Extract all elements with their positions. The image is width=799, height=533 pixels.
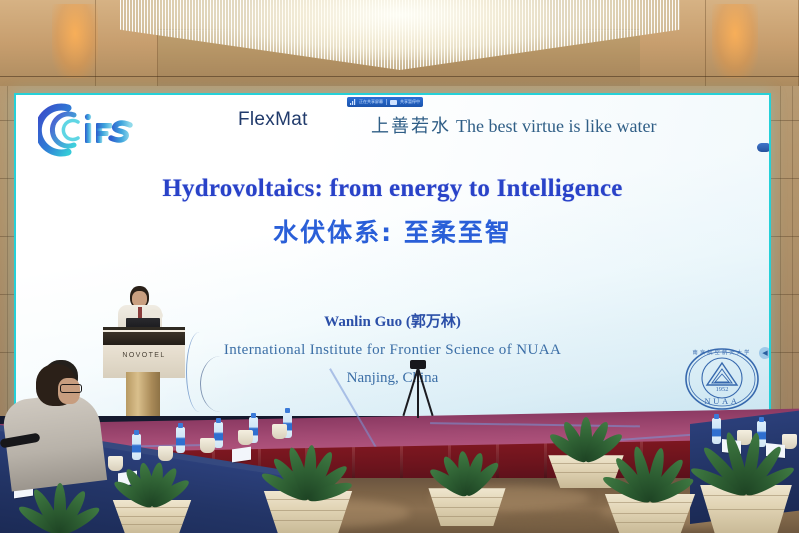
- speaker-name-chinese: 郭万林: [411, 312, 456, 330]
- water-bottle: [176, 427, 185, 453]
- ceiling-edge-line: [0, 76, 799, 77]
- potted-plant: [595, 440, 705, 533]
- tea-cup: [238, 430, 253, 445]
- lectern-top-band: [103, 332, 185, 345]
- conference-presentation-photo: 正在共享屏幕 共享暂停中 FlexMat 上善若水The best virtue…: [0, 0, 799, 533]
- eyeglasses: [60, 384, 82, 393]
- svg-text:南京航空航天大学: 南京航空航天大学: [692, 348, 751, 356]
- wall-joint: [792, 86, 793, 426]
- ceiling-warm-light: [712, 4, 758, 78]
- camera-tripod: [401, 360, 435, 418]
- speaker-name-latin: Wanlin Guo (: [324, 314, 411, 330]
- speaker-name-paren: ): [456, 314, 461, 330]
- potted-plant: [0, 470, 120, 533]
- lectern-brand-label: NOVOTEL: [103, 352, 185, 359]
- potted-plant: [254, 432, 362, 533]
- wall-joint: [780, 86, 781, 426]
- slide-tagline: 上善若水The best virtue is like water: [371, 112, 656, 138]
- screen-share-status-badge: 正在共享屏幕 共享暂停中: [347, 97, 423, 107]
- svg-text:NUAA: NUAA: [704, 396, 739, 406]
- ifs-logo: [38, 103, 134, 157]
- nuaa-seal-logo: 1952 NUAA 南京航空航天大学: [684, 341, 760, 416]
- tagline-chinese: 上善若水: [371, 116, 456, 137]
- name-card: [232, 447, 251, 463]
- ceiling: [0, 0, 799, 88]
- lectern-base: [126, 372, 160, 416]
- potted-plant: [690, 418, 799, 533]
- share-status-right: 共享暂停中: [400, 100, 420, 104]
- audience-member-front: [6, 364, 102, 484]
- slide-title-chinese: 水伏体系: 至柔至智: [16, 213, 769, 249]
- screen-share-collapse-tab[interactable]: ◀: [759, 347, 769, 359]
- ceiling-warm-light: [52, 4, 98, 78]
- water-bottle: [214, 422, 223, 448]
- slide-title-english: Hydrovoltaics: from energy to Intelligen…: [16, 175, 769, 203]
- cast-icon: [390, 100, 397, 105]
- screen-share-edge-tab[interactable]: [757, 143, 769, 152]
- badge-divider: [386, 99, 387, 105]
- flexmat-brand-label: FlexMat: [238, 109, 308, 131]
- potted-plant: [420, 436, 514, 526]
- tagline-english: The best virtue is like water: [456, 116, 656, 136]
- tea-cup: [200, 438, 215, 453]
- svg-text:1952: 1952: [716, 386, 729, 393]
- microphone: [0, 430, 40, 460]
- chandelier-glow: [250, 0, 550, 60]
- signal-icon: [350, 99, 356, 105]
- share-status-left: 正在共享屏幕: [359, 100, 383, 104]
- podium-cable: [200, 356, 241, 412]
